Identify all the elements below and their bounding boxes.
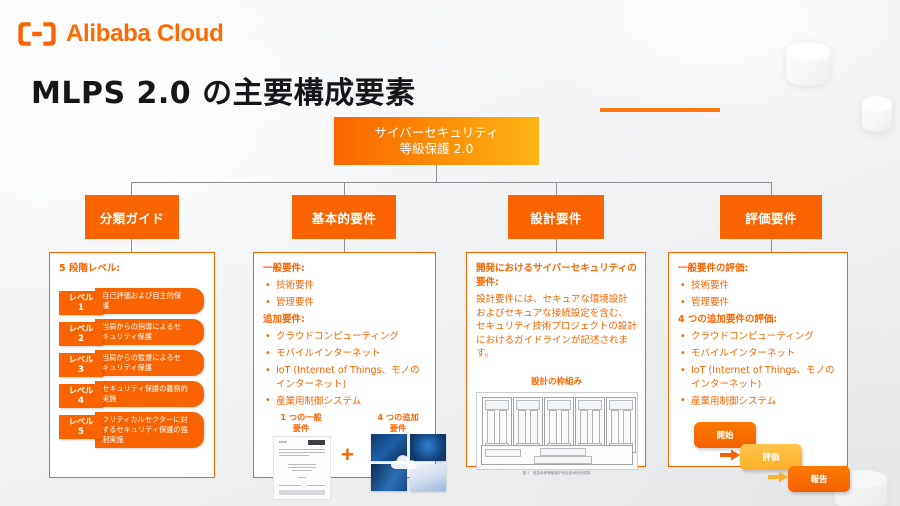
list-item[interactable]: 当局からの監督によるセキュリティ保護 レベル 3 bbox=[59, 350, 206, 378]
level-badge-number: 4 bbox=[59, 396, 103, 406]
level-badge-number: 2 bbox=[59, 334, 103, 344]
connector-drop-4 bbox=[771, 182, 772, 195]
brand-logo: Alibaba Cloud bbox=[17, 20, 223, 48]
panel-classification-guide: 5 段階レベル: 自己評価および自主的保護 レベル 1 当局からの指導によるセキ… bbox=[49, 252, 215, 478]
level-description: 当局からの監督によるセキュリティ保護 bbox=[95, 350, 204, 376]
category-header-basic-requirements[interactable]: 基本的要件 bbox=[292, 195, 396, 239]
panel-basic-requirements: 一般要件: 技術要件 管理要件 追加要件: クラウドコンピューティング モバイル… bbox=[253, 252, 436, 478]
level-badge-4: レベル 4 bbox=[59, 384, 103, 408]
title-underline bbox=[600, 108, 720, 112]
evaluation-additional-title: 4 つの追加要件の評価: bbox=[678, 313, 839, 327]
level-badge-3: レベル 3 bbox=[59, 353, 103, 377]
level-badge-number: 5 bbox=[59, 427, 103, 437]
framework-base-row bbox=[481, 445, 633, 465]
level-badge-word: レベル bbox=[59, 384, 103, 396]
list-item: 産業用制御システム bbox=[678, 395, 839, 409]
category-header-classification-guide[interactable]: 分類ガイド bbox=[85, 195, 179, 239]
requirement-comparison: 1 つの一般 要件 4 つの追加 要件 + bbox=[263, 412, 427, 504]
list-item[interactable]: クリティカルセクターに対するセキュリティ保護の強制実施 レベル 5 bbox=[59, 412, 206, 440]
alibaba-cloud-logo-icon bbox=[17, 20, 57, 48]
brand-name: Alibaba Cloud bbox=[66, 20, 223, 48]
list-item: クラウドコンピューティング bbox=[263, 330, 427, 344]
list-item: 技術要件 bbox=[263, 279, 427, 293]
connector-drop-1 bbox=[131, 182, 132, 195]
design-intro-title: 開発におけるサイバーセキュリティの 要件: bbox=[476, 262, 637, 290]
root-node-line1: サイバーセキュリティ bbox=[374, 125, 498, 141]
list-item: 管理要件 bbox=[678, 296, 839, 310]
figure-title: 設計の枠組み bbox=[476, 375, 637, 387]
list-item[interactable]: 当局からの指導によるセキュリティ保護 レベル 2 bbox=[59, 319, 206, 347]
category-header-design-requirements[interactable]: 設計要件 bbox=[508, 195, 604, 239]
level-badge-number: 3 bbox=[59, 365, 103, 375]
list-item: IoT (Internet of Things、モノのインターネット) bbox=[678, 364, 839, 391]
panel-design-requirements: 開発におけるサイバーセキュリティの 要件: 設計要件には、セキュアな環境設計およ… bbox=[466, 252, 646, 467]
slide-canvas: Alibaba Cloud MLPS 2.0 の主要構成要素 サイバーセキュリテ… bbox=[0, 0, 900, 506]
page-title: MLPS 2.0 の主要構成要素 bbox=[31, 68, 416, 112]
connector-panel-2 bbox=[344, 239, 345, 252]
decorative-cylinder-2 bbox=[862, 96, 892, 132]
evaluation-general-title: 一般要件の評価: bbox=[678, 262, 839, 276]
decorative-cylinder-1 bbox=[786, 42, 830, 86]
level-badge-word: レベル bbox=[59, 291, 103, 303]
additional-requirements-title: 追加要件: bbox=[263, 313, 427, 327]
flow-arrow-2-icon bbox=[768, 470, 790, 484]
level-badge-word: レベル bbox=[59, 415, 103, 427]
root-node-line2: 等級保護 2.0 bbox=[400, 141, 474, 157]
panel-evaluation-requirements: 一般要件の評価: 技術要件 管理要件 4 つの追加要件の評価: クラウドコンピュ… bbox=[668, 252, 848, 467]
design-body-text: 設計要件には、セキュアな環境設計およびセキュアな接続設定を含む、セキュリティ技術… bbox=[476, 293, 637, 361]
level-badge-2: レベル 2 bbox=[59, 322, 103, 346]
evaluation-flow: 開始 評価 報告 bbox=[678, 420, 839, 492]
connector-panel-1 bbox=[131, 239, 132, 252]
flow-arrow-1-icon bbox=[720, 448, 742, 462]
root-node-cybersecurity-mlps[interactable]: サイバーセキュリティ 等級保護 2.0 bbox=[334, 117, 539, 165]
list-item: 管理要件 bbox=[263, 296, 427, 310]
level-description: 当局からの指導によるセキュリティ保護 bbox=[95, 319, 204, 345]
general-requirements-title: 一般要件: bbox=[263, 262, 427, 276]
list-item: クラウドコンピューティング bbox=[678, 330, 839, 344]
level-description: セキュリティ保護の義務的実施 bbox=[95, 381, 204, 407]
levels-section-title: 5 段階レベル: bbox=[59, 262, 206, 276]
connector-drop-2 bbox=[344, 182, 345, 195]
level-list: 自己評価および自主的保護 レベル 1 当局からの指導によるセキュリティ保護 レベ… bbox=[59, 288, 206, 440]
figure-caption: 図 1 信息系統等級保护安全技术设计框架 bbox=[476, 471, 637, 476]
plus-sign: + bbox=[341, 444, 354, 466]
level-description: 自己評価および自主的保護 bbox=[95, 288, 204, 314]
list-item: IoT (Internet of Things、モノのインターネット) bbox=[263, 364, 427, 391]
comparison-left-label: 1 つの一般 要件 bbox=[266, 412, 336, 434]
connector-drop-3 bbox=[556, 182, 557, 195]
level-description: クリティカルセクターに対するセキュリティ保護の強制実施 bbox=[95, 412, 204, 448]
level-badge-number: 1 bbox=[59, 303, 103, 313]
general-requirement-document-thumbnail bbox=[273, 436, 331, 500]
list-item: モバイルインターネット bbox=[678, 347, 839, 361]
connector-horizontal-bus bbox=[131, 182, 771, 183]
list-item: 産業用制御システム bbox=[263, 395, 427, 409]
level-badge-1: レベル 1 bbox=[59, 291, 103, 315]
list-item[interactable]: 自己評価および自主的保護 レベル 1 bbox=[59, 288, 206, 316]
level-badge-word: レベル bbox=[59, 353, 103, 365]
level-badge-5: レベル 5 bbox=[59, 415, 103, 439]
flow-step-report[interactable]: 報告 bbox=[788, 466, 850, 492]
comparison-right-label: 4 つの追加 要件 bbox=[363, 412, 433, 434]
list-item: モバイルインターネット bbox=[263, 347, 427, 361]
connector-panel-4 bbox=[771, 239, 772, 252]
connector-root-stem bbox=[436, 165, 437, 182]
design-framework-diagram bbox=[476, 392, 638, 470]
list-item[interactable]: セキュリティ保護の義務的実施 レベル 4 bbox=[59, 381, 206, 409]
list-item: 技術要件 bbox=[678, 279, 839, 293]
cloud-icon bbox=[389, 452, 423, 472]
connector-panel-3 bbox=[556, 239, 557, 252]
level-badge-word: レベル bbox=[59, 322, 103, 334]
category-header-evaluation-requirements[interactable]: 評価要件 bbox=[720, 195, 822, 239]
